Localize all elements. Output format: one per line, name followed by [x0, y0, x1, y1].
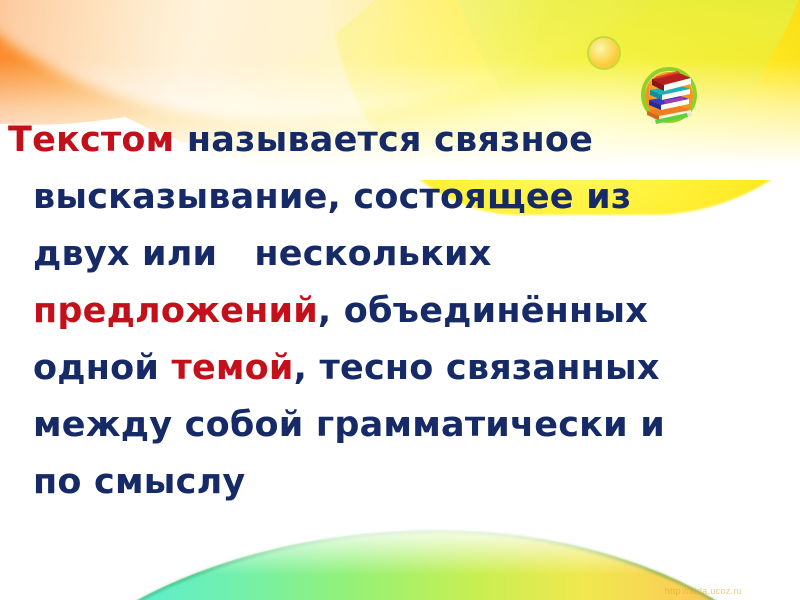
- text-run-2-1: высказывание, состоящее из: [33, 177, 631, 217]
- text-line-4: предложений, объединённых: [8, 283, 794, 340]
- text-run-7-1: по смыслу: [33, 462, 245, 502]
- orange-swoosh-shape: [0, 0, 460, 125]
- text-run-5-1: одной: [33, 348, 171, 388]
- watermark-text: http://aida.ucoz.ru: [665, 586, 742, 596]
- text-line-6: между собой грамматически и: [8, 397, 794, 454]
- highlight-term-5-2: темой: [171, 348, 293, 388]
- text-line-5: одной темой, тесно связанных: [8, 340, 794, 397]
- highlight-term-4-1: предложений: [33, 291, 318, 331]
- presentation-slide: Текстом называется связноевысказывание, …: [0, 0, 800, 600]
- decorative-bubble: [589, 38, 619, 68]
- text-run-1-2: называется связное: [187, 120, 593, 160]
- highlight-term-1-1: Текстом: [8, 120, 187, 160]
- text-line-7: по смыслу: [8, 454, 794, 511]
- text-line-1: Текстом называется связное: [8, 112, 794, 169]
- text-run-6-1: между собой грамматически и: [33, 405, 665, 445]
- text-line-3: двух или нескольких: [8, 226, 794, 283]
- slide-body-text: Текстом называется связноевысказывание, …: [0, 112, 800, 511]
- text-run-4-2: , объединённых: [318, 291, 648, 331]
- text-line-2: высказывание, состоящее из: [8, 169, 794, 226]
- text-run-3-1: двух или нескольких: [33, 234, 492, 274]
- text-run-5-3: , тесно связанных: [294, 348, 660, 388]
